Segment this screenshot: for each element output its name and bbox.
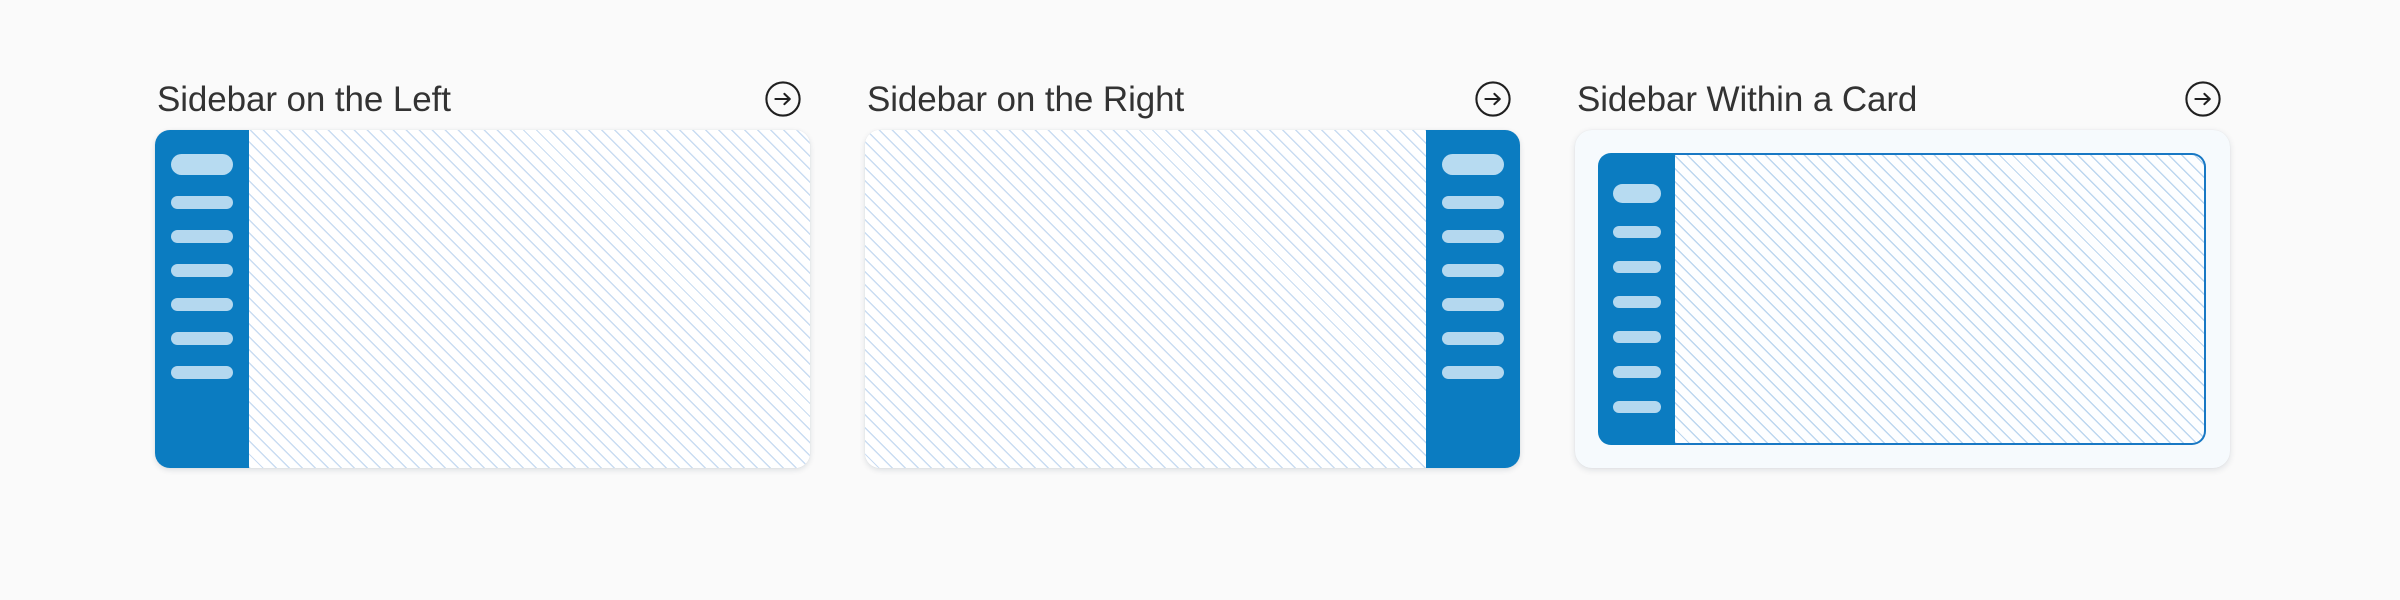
page-title: Sidebar on the Left	[157, 82, 451, 117]
list-item[interactable]	[1442, 366, 1504, 379]
sidebar-item-logo[interactable]	[171, 154, 233, 175]
list-item[interactable]	[1442, 196, 1504, 209]
sidebar[interactable]	[1598, 153, 1675, 445]
layout-gallery: Sidebar on the Left	[0, 0, 2400, 600]
list-item[interactable]	[171, 332, 233, 345]
panel-row: Sidebar on the Left	[155, 68, 2230, 468]
sidebar-item-logo[interactable]	[1613, 184, 1661, 203]
list-item[interactable]	[171, 366, 233, 379]
sidebar[interactable]	[1426, 130, 1520, 468]
list-item[interactable]	[1442, 264, 1504, 277]
content-area-placeholder	[1675, 153, 2206, 445]
arrow-right-circle-icon[interactable]	[2182, 78, 2224, 120]
page-title: Sidebar on the Right	[867, 82, 1184, 117]
layout-preview	[865, 130, 1520, 468]
list-item[interactable]	[171, 196, 233, 209]
panel-sidebar-in-card: Sidebar Within a Card	[1575, 68, 2230, 468]
layout-preview	[155, 130, 810, 468]
list-item[interactable]	[1613, 261, 1661, 273]
panel-sidebar-left: Sidebar on the Left	[155, 68, 810, 468]
list-item[interactable]	[171, 230, 233, 243]
content-area-placeholder	[865, 130, 1426, 468]
sidebar-item-logo[interactable]	[1442, 154, 1504, 175]
page-title: Sidebar Within a Card	[1577, 82, 1917, 117]
panel-header: Sidebar on the Right	[865, 68, 1520, 130]
list-item[interactable]	[1613, 296, 1661, 308]
list-item[interactable]	[1442, 298, 1504, 311]
list-item[interactable]	[1613, 366, 1661, 378]
list-item[interactable]	[1613, 331, 1661, 343]
arrow-right-circle-icon[interactable]	[1472, 78, 1514, 120]
layout-preview-card	[1575, 130, 2230, 468]
list-item[interactable]	[1442, 332, 1504, 345]
list-item[interactable]	[171, 298, 233, 311]
list-item[interactable]	[171, 264, 233, 277]
card-inner-frame	[1598, 153, 2206, 445]
arrow-right-circle-icon[interactable]	[762, 78, 804, 120]
panel-header: Sidebar Within a Card	[1575, 68, 2230, 130]
list-item[interactable]	[1442, 230, 1504, 243]
content-area-placeholder	[249, 130, 810, 468]
panel-header: Sidebar on the Left	[155, 68, 810, 130]
sidebar[interactable]	[155, 130, 249, 468]
list-item[interactable]	[1613, 226, 1661, 238]
list-item[interactable]	[1613, 401, 1661, 413]
panel-sidebar-right: Sidebar on the Right	[865, 68, 1520, 468]
